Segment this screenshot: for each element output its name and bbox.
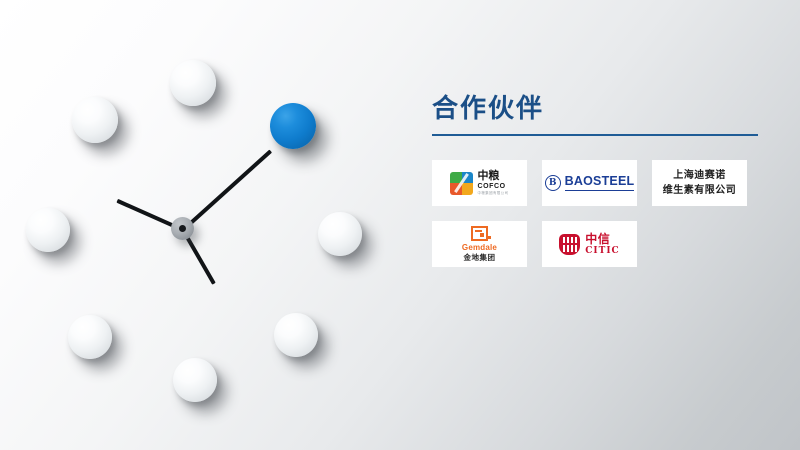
section-header: 合作伙伴 [432,92,772,136]
cofco-name-cn: 中粮 [477,170,508,181]
gemdale-name-cn: 金地集团 [462,254,497,262]
clock-ball-1-accent [270,103,316,149]
wall-clock-photo [0,0,420,450]
cofco-name-en: COFCO [477,183,508,190]
citic-wordmark: 中信 CITIC [585,233,619,256]
citic-name-en: CITIC [585,247,619,256]
partner-card-empty [652,221,747,267]
clock-minute-hand [182,150,272,232]
baosteel-circle-icon: B [545,175,561,191]
disano-line-2: 维生素有限公司 [663,183,737,198]
cofco-tagline: 中粮集团有限公司 [477,192,508,195]
page-title: 合作伙伴 [432,92,772,126]
clock-ball-9 [26,208,70,252]
clock-ball-12 [170,60,216,106]
partner-card-citic[interactable]: 中信 CITIC [542,221,637,267]
title-underline [432,134,758,136]
cofco-wordmark: 中粮 COFCO 中粮集团有限公司 [477,170,508,195]
partner-card-cofco[interactable]: 中粮 COFCO 中粮集团有限公司 [432,160,527,206]
cofco-cube-icon [450,172,473,195]
partners-section: 合作伙伴 中粮 COFCO 中粮集团有限公司 [432,92,772,267]
citic-shield-icon [559,234,580,255]
gemdale-logo: Gemdale 金地集团 [462,226,497,262]
citic-logo: 中信 CITIC [559,233,619,256]
clock-center-pin [179,225,186,232]
slide-canvas: 合作伙伴 中粮 COFCO 中粮集团有限公司 [0,0,800,450]
partner-logo-grid: 中粮 COFCO 中粮集团有限公司 B BAOSTEEL 上海迪赛诺 维生素有限… [432,160,772,267]
clock-ball-11 [72,97,118,143]
partner-card-gemdale[interactable]: Gemdale 金地集团 [432,221,527,267]
clock-ball-4 [274,313,318,357]
partner-card-baosteel[interactable]: B BAOSTEEL [542,160,637,206]
partner-card-disano[interactable]: 上海迪赛诺 维生素有限公司 [652,160,747,206]
disano-logo: 上海迪赛诺 维生素有限公司 [663,168,737,198]
citic-name-cn: 中信 [585,233,619,245]
baosteel-logo: B BAOSTEEL [545,175,635,191]
gemdale-name-en: Gemdale [462,244,497,252]
gemdale-square-icon [471,226,488,241]
clock-ball-6 [173,358,217,402]
cofco-logo: 中粮 COFCO 中粮集团有限公司 [450,170,508,195]
disano-line-1: 上海迪赛诺 [663,168,737,183]
clock-ball-3 [318,212,362,256]
baosteel-name-en: BAOSTEEL [565,175,635,190]
clock-ball-8 [68,315,112,359]
